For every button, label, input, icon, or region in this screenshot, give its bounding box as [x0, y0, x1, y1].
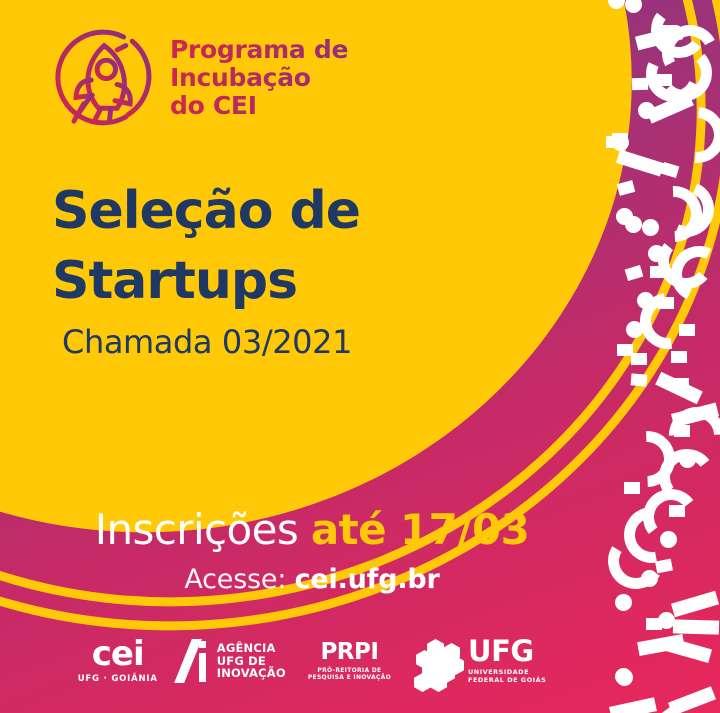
program-logo: Programa de Incubação do CEI	[48, 24, 348, 132]
deadline-prefix: Inscrições	[95, 505, 311, 554]
partner-logo-bar: cei UFG · GOIÂNIA AGÊNCIA UFG DE INOVAÇÃ…	[0, 630, 624, 692]
logo-prpi-main: PRPI	[320, 641, 378, 664]
hexagon-cluster-icon	[413, 639, 461, 683]
logo-ufg-main: UFG	[468, 638, 546, 666]
call-number: Chamada 03/2021	[62, 323, 352, 361]
website-url[interactable]: cei.ufg.br	[295, 564, 440, 595]
logo-agencia-main: AGÊNCIA UFG DE INOVAÇÃO	[217, 642, 286, 681]
logo-cei-main: cei	[92, 638, 144, 670]
logo-agencia-inovacao: AGÊNCIA UFG DE INOVAÇÃO	[180, 639, 286, 683]
slash-i-icon	[180, 639, 210, 683]
logo-ufg-sub: UNIVERSIDADE FEDERAL DE GOIÁS	[468, 668, 546, 684]
website-line: Acesse: cei.ufg.br	[0, 564, 624, 595]
logo-ufg: UFG UNIVERSIDADE FEDERAL DE GOIÁS	[413, 638, 546, 684]
program-logo-text: Programa de Incubação do CEI	[170, 36, 348, 119]
logo-cei-sub: UFG · GOIÂNIA	[78, 674, 158, 684]
logo-prpi: PRPI PRÓ-REITORIA DE PESQUISA E INOVAÇÃO	[308, 641, 391, 682]
promotional-poster: Programa de Incubação do CEI Seleção de …	[0, 0, 720, 713]
rocket-icon	[48, 24, 156, 132]
deadline-date: até 17/03	[311, 505, 529, 554]
logo-prpi-sub: PRÓ-REITORIA DE PESQUISA E INOVAÇÃO	[308, 667, 391, 682]
access-label: Acesse:	[184, 564, 294, 595]
page-title: Seleção de Startups	[52, 176, 472, 316]
deadline-line: Inscrições até 17/03	[0, 505, 624, 554]
logo-cei: cei UFG · GOIÂNIA	[78, 638, 158, 684]
